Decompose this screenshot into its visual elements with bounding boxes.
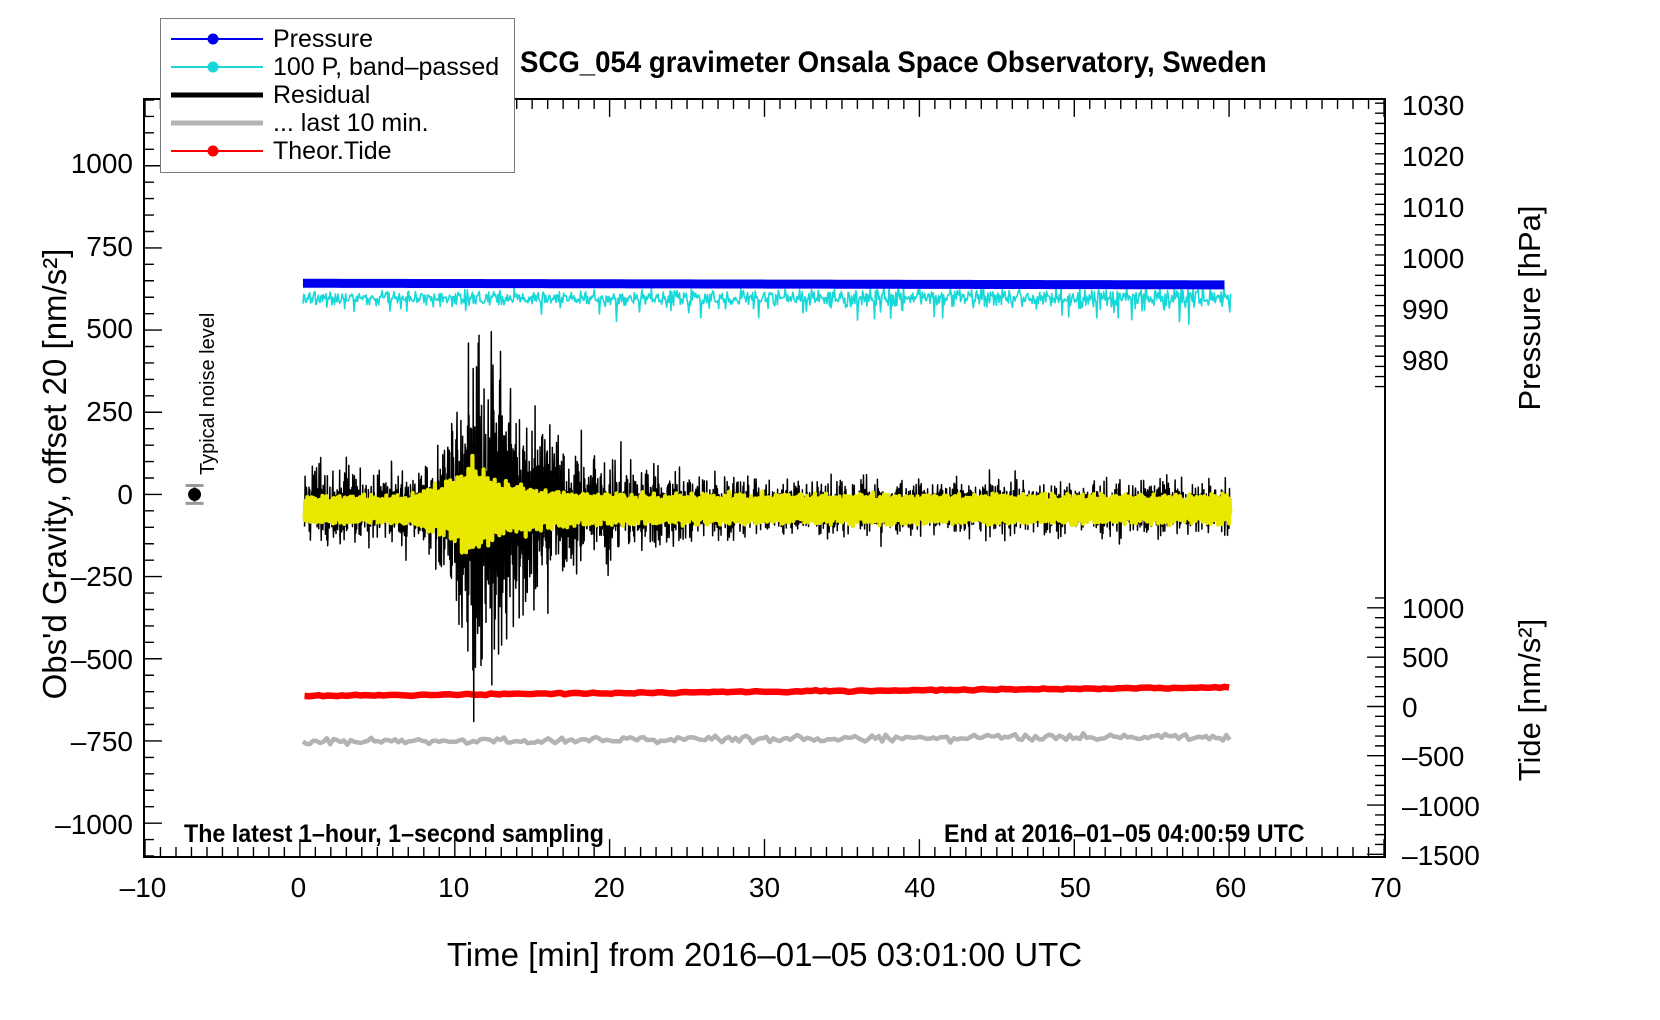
- y-tick-label-pressure: 980: [1402, 345, 1449, 377]
- series-theoretical-tide: [305, 687, 1230, 696]
- x-tick-label: 40: [904, 872, 935, 904]
- legend-marker-icon: [208, 34, 219, 45]
- y-tick-label-tide: –1500: [1402, 840, 1480, 872]
- legend-swatch: [169, 82, 265, 108]
- y-tick-label-pressure: 1030: [1402, 90, 1464, 122]
- legend-item[interactable]: 100 P, band–passed: [161, 53, 514, 81]
- plot-canvas: [145, 100, 1384, 856]
- y-tick-label-tide: –1000: [1402, 791, 1480, 823]
- legend-item[interactable]: Pressure: [161, 25, 514, 53]
- y-tick-label-left: 0: [117, 479, 133, 511]
- legend-line-icon: [171, 93, 263, 98]
- y-tick-label-pressure: 1000: [1402, 243, 1464, 275]
- y-axis-right-ticks: 103010201010100099098010005000–500–1000–…: [1402, 0, 1572, 1020]
- y-tick-label-left: –750: [71, 726, 133, 758]
- legend-item[interactable]: ... last 10 min.: [161, 109, 514, 137]
- plot-area: [143, 98, 1386, 858]
- legend-swatch: [169, 110, 265, 136]
- chart-page: SCG_054 gravimeter Onsala Space Observat…: [0, 0, 1660, 1020]
- y-tick-label-left: 750: [86, 231, 133, 263]
- y-tick-label-tide: 0: [1402, 692, 1418, 724]
- y-axis-left-ticks: 10007505002500–250–500–750–1000: [0, 0, 133, 1020]
- y-tick-label-pressure: 990: [1402, 294, 1449, 326]
- typical-noise-level-marker: [186, 485, 204, 503]
- legend-line-icon: [171, 121, 263, 126]
- x-tick-label: 50: [1060, 872, 1091, 904]
- x-tick-label: –10: [120, 872, 167, 904]
- y-tick-label-left: –500: [71, 644, 133, 676]
- y-tick-label-tide: 1000: [1402, 593, 1464, 625]
- y-tick-label-left: –1000: [55, 809, 133, 841]
- y-tick-label-left: 500: [86, 313, 133, 345]
- x-tick-label: 60: [1215, 872, 1246, 904]
- legend-item[interactable]: Residual: [161, 81, 514, 109]
- legend-marker-icon: [208, 62, 219, 73]
- legend: Pressure100 P, band–passedResidual... la…: [160, 18, 515, 173]
- legend-swatch: [169, 26, 265, 52]
- footer-note-right: End at 2016–01–05 04:00:59 UTC: [944, 820, 1305, 849]
- x-tick-label: 70: [1370, 872, 1401, 904]
- y-tick-label-tide: –500: [1402, 741, 1464, 773]
- legend-marker-icon: [208, 146, 219, 157]
- series-last-10-min: [303, 733, 1230, 744]
- legend-label: Pressure: [265, 25, 373, 54]
- legend-swatch: [169, 138, 265, 164]
- series-pressure: [303, 283, 1225, 285]
- x-axis-title: Time [min] from 2016–01–05 03:01:00 UTC: [143, 936, 1386, 974]
- y-tick-label-pressure: 1010: [1402, 192, 1464, 224]
- x-tick-label: 30: [749, 872, 780, 904]
- y-tick-label-left: –250: [71, 561, 133, 593]
- series-bandpassed-pressure: [303, 285, 1231, 324]
- footer-note-left: The latest 1–hour, 1–second sampling: [184, 820, 604, 849]
- x-tick-label: 10: [438, 872, 469, 904]
- y-tick-label-left: 250: [86, 396, 133, 428]
- legend-label: Residual: [265, 81, 370, 110]
- x-tick-label: 0: [291, 872, 307, 904]
- y-tick-label-tide: 500: [1402, 642, 1449, 674]
- typical-noise-level-label: Typical noise level: [197, 313, 220, 475]
- legend-swatch: [169, 54, 265, 80]
- legend-label: 100 P, band–passed: [265, 53, 499, 82]
- legend-label: Theor.Tide: [265, 137, 392, 166]
- y-tick-label-pressure: 1020: [1402, 141, 1464, 173]
- legend-item[interactable]: Theor.Tide: [161, 137, 514, 165]
- x-tick-label: 20: [594, 872, 625, 904]
- legend-label: ... last 10 min.: [265, 109, 429, 138]
- page-title: SCG_054 gravimeter Onsala Space Observat…: [520, 46, 1330, 80]
- y-tick-label-left: 1000: [71, 148, 133, 180]
